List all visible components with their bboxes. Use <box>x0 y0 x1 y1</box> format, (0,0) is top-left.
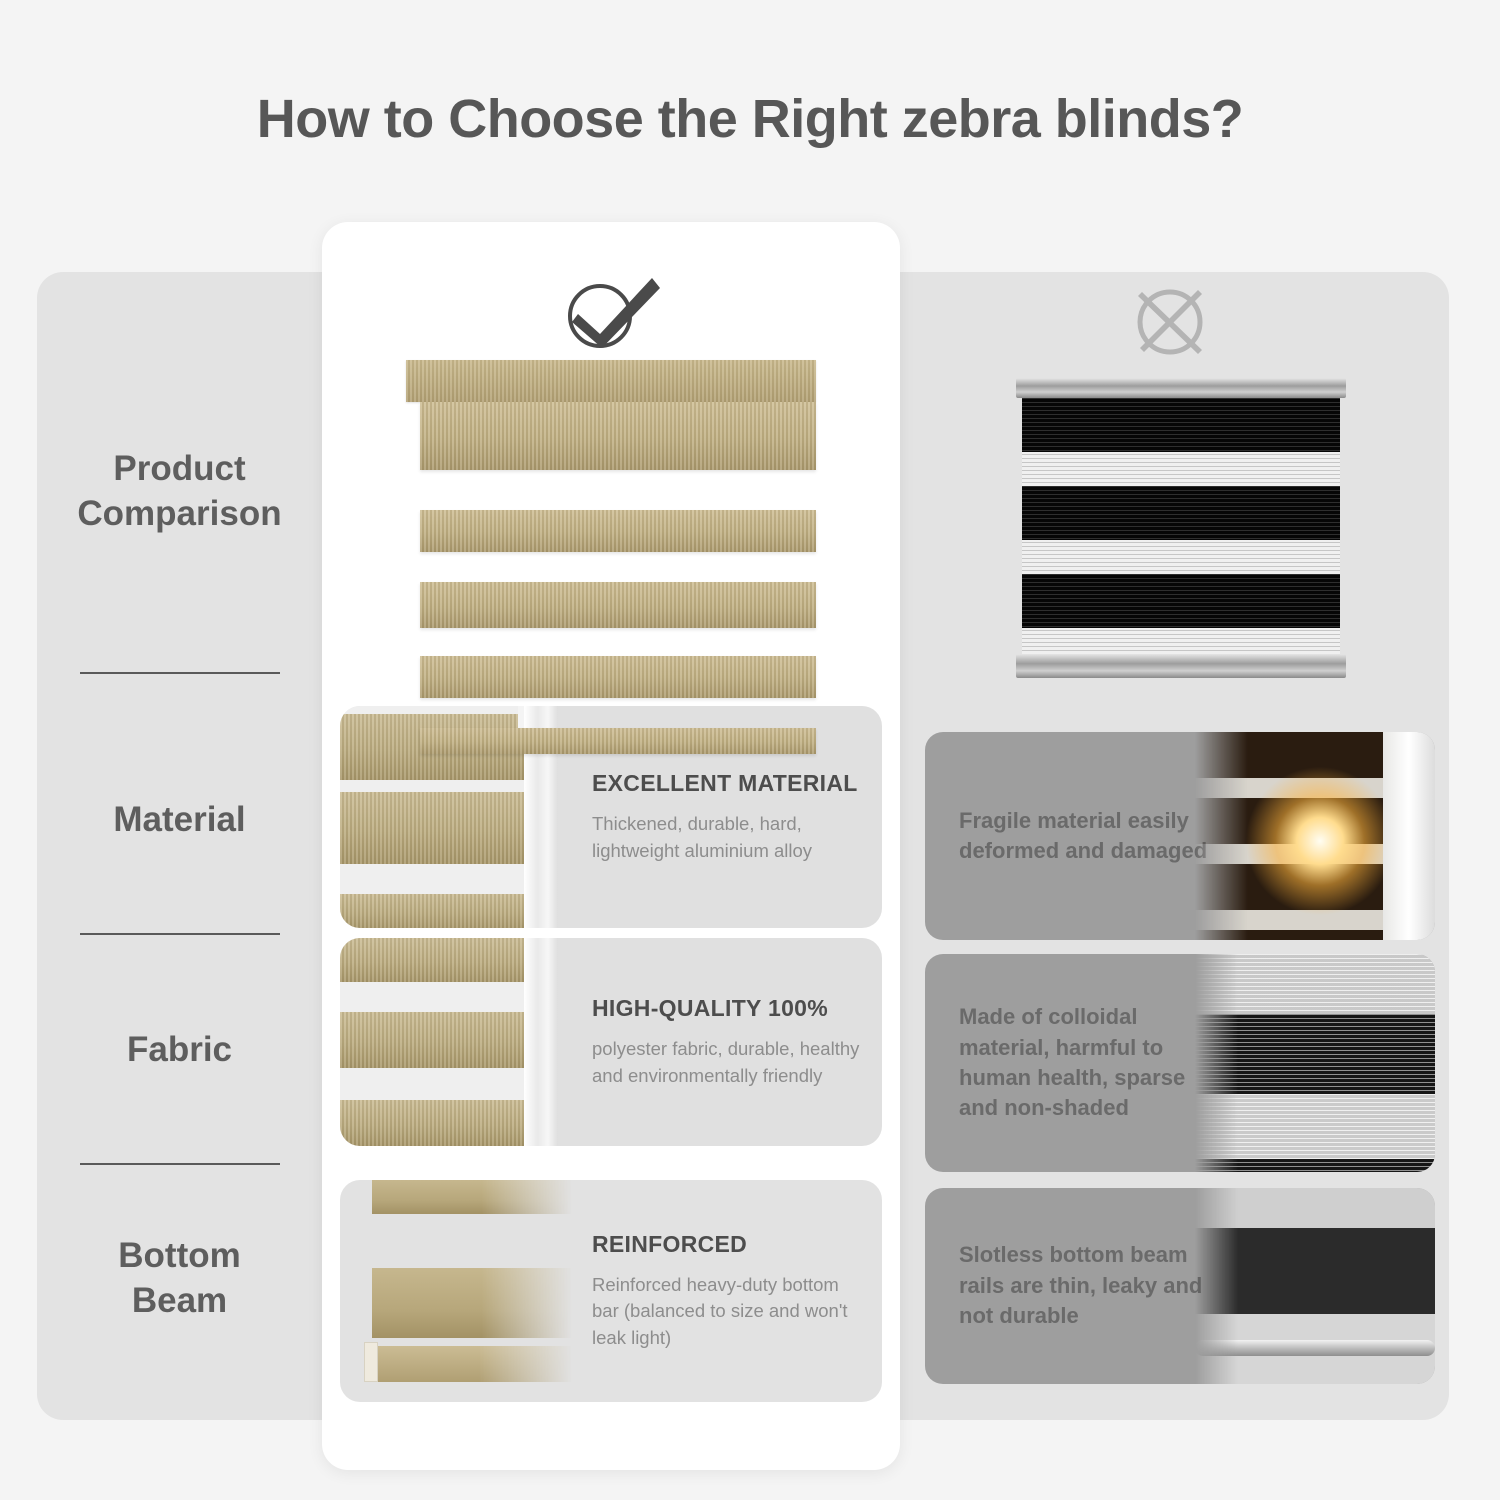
row-label-bottom-beam: Bottom Beam <box>37 1234 322 1324</box>
row-divider-2 <box>80 933 280 935</box>
x-circle-icon <box>1128 282 1212 362</box>
blind-fabric-image <box>340 938 558 1146</box>
bad-fabric-photo <box>1195 954 1435 1172</box>
good-bottom-beam-text: REINFORCED Reinforced heavy-duty bottom … <box>592 1180 862 1402</box>
good-bottom-beam-title: REINFORCED <box>592 1231 862 1258</box>
bad-feature-card-fabric: Made of colloidal material, harmful to h… <box>925 954 1435 1172</box>
row-label-line1: Product <box>37 447 322 492</box>
sparse-fabric-image <box>1195 954 1435 1172</box>
good-fabric-photo <box>340 938 558 1146</box>
bad-hero-product-image <box>1016 378 1346 678</box>
good-slat <box>420 582 816 628</box>
page-title: How to Choose the Right zebra blinds? <box>0 88 1500 150</box>
row-label-line2: Beam <box>37 1279 322 1324</box>
bad-headrail <box>1016 378 1346 398</box>
good-fabric-body: polyester fabric, durable, healthy and e… <box>592 1036 862 1089</box>
row-divider-3 <box>80 1163 280 1165</box>
bad-feature-card-bottom-beam: Slotless bottom beam rails are thin, lea… <box>925 1188 1435 1384</box>
row-label-line1: Material <box>37 798 322 843</box>
good-fabric-text: HIGH-QUALITY 100% polyester fabric, dura… <box>592 938 862 1146</box>
bad-blind-fabric <box>1022 398 1340 654</box>
bad-material-text: Fragile material easily deformed and dam… <box>959 732 1219 940</box>
row-label-fabric: Fabric <box>37 1028 322 1073</box>
row-label-line1: Fabric <box>37 1028 322 1073</box>
good-bottom-beam-body: Reinforced heavy-duty bottom bar (balanc… <box>592 1272 862 1351</box>
good-feature-card-bottom-beam: REINFORCED Reinforced heavy-duty bottom … <box>340 1180 882 1402</box>
bad-bottom-beam-photo <box>1195 1188 1435 1384</box>
row-label-line1: Bottom <box>37 1234 322 1279</box>
row-label-material: Material <box>37 798 322 843</box>
good-headrail <box>406 360 816 402</box>
row-label-column: Product Comparison Material Fabric Botto… <box>37 272 322 1420</box>
good-slat <box>420 656 816 698</box>
row-divider-1 <box>80 672 280 674</box>
row-label-line2: Comparison <box>37 492 322 537</box>
good-fabric-title: HIGH-QUALITY 100% <box>592 995 862 1022</box>
bottom-beam-image <box>340 1180 558 1402</box>
good-bottom-beam-photo <box>340 1180 558 1402</box>
good-slat <box>420 402 816 470</box>
good-material-title: EXCELLENT MATERIAL <box>592 770 862 797</box>
thin-rail-image <box>1195 1188 1435 1384</box>
bad-fabric-text: Made of colloidal material, harmful to h… <box>959 954 1219 1172</box>
good-feature-card-fabric: HIGH-QUALITY 100% polyester fabric, dura… <box>340 938 882 1146</box>
row-label-product-comparison: Product Comparison <box>37 447 322 537</box>
bad-bottom-beam-text: Slotless bottom beam rails are thin, lea… <box>959 1188 1219 1384</box>
bad-feature-card-material: Fragile material easily deformed and dam… <box>925 732 1435 940</box>
bad-bottom-rail <box>1016 654 1346 678</box>
light-flare-image <box>1195 732 1435 940</box>
good-material-body: Thickened, durable, hard, lightweight al… <box>592 811 862 864</box>
good-bottom-bar <box>420 728 816 754</box>
check-circle-icon <box>556 272 666 352</box>
bad-material-photo <box>1195 732 1435 940</box>
good-hero-product-image <box>406 360 816 696</box>
good-slat <box>420 510 816 552</box>
